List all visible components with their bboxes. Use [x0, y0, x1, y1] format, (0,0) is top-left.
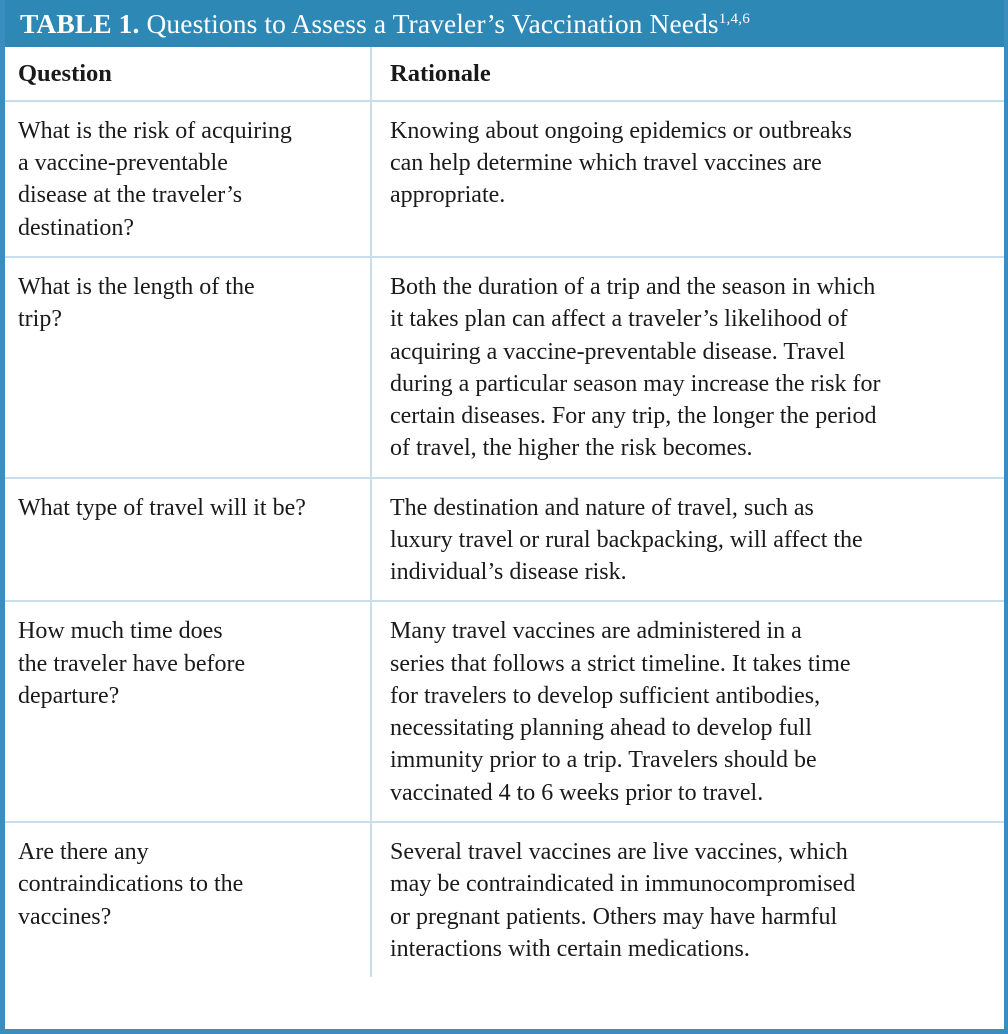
- rationale-text: Many travel vaccines are administered in…: [390, 615, 992, 809]
- cell-rationale: Both the duration of a trip and the seas…: [371, 257, 1008, 478]
- cell-rationale: The destination and nature of travel, su…: [371, 478, 1008, 602]
- table-header-row: Question Rationale: [0, 47, 1008, 101]
- question-text: What type of travel will it be?: [18, 492, 354, 524]
- table-title-bar: TABLE 1. Questions to Assess a Traveler’…: [0, 0, 1008, 47]
- cell-question: How much time does the traveler have bef…: [0, 601, 371, 822]
- cell-rationale: Knowing about ongoing epidemics or outbr…: [371, 101, 1008, 257]
- cell-rationale: Several travel vaccines are live vaccine…: [371, 822, 1008, 977]
- cell-question: What type of travel will it be?: [0, 478, 371, 602]
- cell-question: What is the length of the trip?: [0, 257, 371, 478]
- table-title: TABLE 1. Questions to Assess a Traveler’…: [20, 10, 750, 38]
- question-text: How much time does the traveler have bef…: [18, 615, 354, 712]
- cell-rationale: Many travel vaccines are administered in…: [371, 601, 1008, 822]
- table-row: What is the length of the trip? Both the…: [0, 257, 1008, 478]
- table-row: What type of travel will it be? The dest…: [0, 478, 1008, 602]
- column-header-rationale: Rationale: [371, 47, 1008, 101]
- rationale-text: Both the duration of a trip and the seas…: [390, 271, 992, 465]
- column-header-question: Question: [0, 47, 371, 101]
- rationale-text: Several travel vaccines are live vaccine…: [390, 836, 992, 965]
- table-row: How much time does the traveler have bef…: [0, 601, 1008, 822]
- assessment-questions-table: Question Rationale What is the risk of a…: [0, 47, 1008, 977]
- question-text: Are there any contraindications to the v…: [18, 836, 354, 933]
- question-text: What is the length of the trip?: [18, 271, 354, 336]
- table-figure: TABLE 1. Questions to Assess a Traveler’…: [0, 0, 1008, 1034]
- table-row: Are there any contraindications to the v…: [0, 822, 1008, 977]
- rationale-text: Knowing about ongoing epidemics or outbr…: [390, 115, 992, 212]
- question-text: What is the risk of acquiring a vaccine-…: [18, 115, 354, 244]
- table-title-superscript-references: 1,4,6: [719, 11, 750, 27]
- table-body: What is the risk of acquiring a vaccine-…: [0, 101, 1008, 977]
- table-header: Question Rationale: [0, 47, 1008, 101]
- cell-question: What is the risk of acquiring a vaccine-…: [0, 101, 371, 257]
- cell-question: Are there any contraindications to the v…: [0, 822, 371, 977]
- table-number-label: TABLE 1.: [20, 8, 140, 39]
- rationale-text: The destination and nature of travel, su…: [390, 492, 992, 589]
- table-row: What is the risk of acquiring a vaccine-…: [0, 101, 1008, 257]
- table-title-text: Questions to Assess a Traveler’s Vaccina…: [140, 8, 719, 39]
